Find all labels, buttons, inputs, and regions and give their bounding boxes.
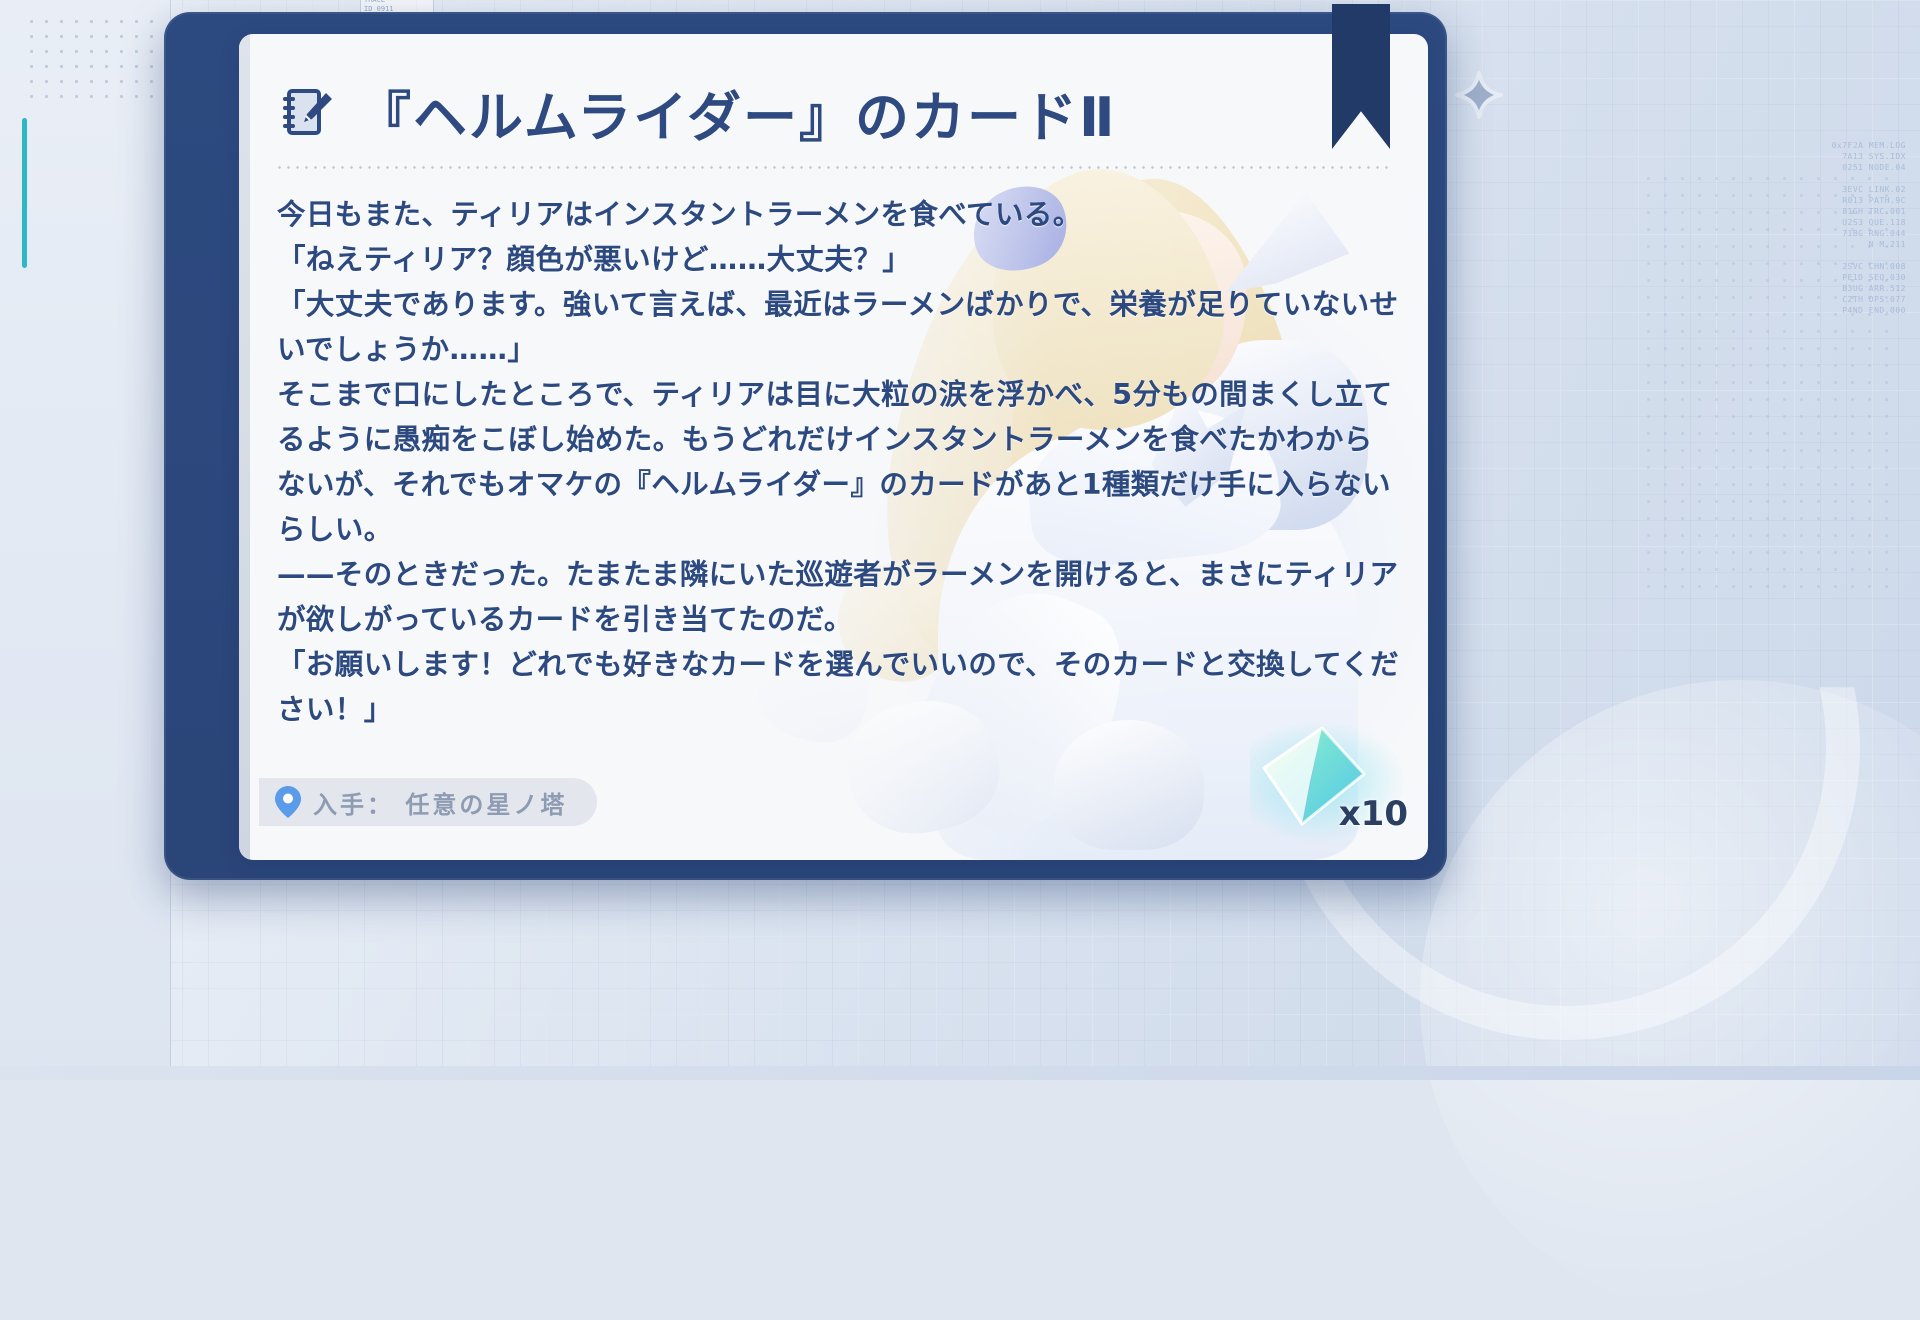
title-divider [275,166,1392,169]
reward-item[interactable]: x10 [1260,724,1410,844]
card-paper: 『ヘルムライダー』のカードⅡ 今日もまた、ティリアはインスタントラーメンを食べて… [239,34,1428,860]
close-button[interactable] [1444,60,1514,130]
background-bottom-strip [0,1066,1920,1080]
paper-left-rail [239,34,250,860]
background-teal-accent-bar [22,118,27,268]
memo-pencil-icon [275,82,335,142]
sparkle-close-icon [1451,67,1507,123]
reward-count: x10 [1339,794,1408,834]
page-title: 『ヘルムライダー』のカードⅡ [357,73,1117,152]
story-paragraph: ——そのときだった。たまたま隣にいた巡遊者がラーメンを開けると、まさにティリアが… [277,552,1399,642]
card-frame: 『ヘルムライダー』のカードⅡ 今日もまた、ティリアはインスタントラーメンを食べて… [164,12,1447,880]
title-row: 『ヘルムライダー』のカードⅡ [275,70,1388,154]
story-body: 今日もまた、ティリアはインスタントラーメンを食べている。 「ねえティリア？顔色が… [277,192,1399,732]
source-badge: 入手： 任意の星ノ塔 [259,778,597,826]
story-paragraph: 「お願いします！どれでも好きなカードを選んでいいので、そのカードと交換してくださ… [277,642,1399,732]
story-paragraph: 今日もまた、ティリアはインスタントラーメンを食べている。 [277,192,1399,237]
map-pin-icon [275,786,301,818]
background-dot-cluster [24,14,164,110]
story-paragraph: そこまで口にしたところで、ティリアは目に大粒の涙を浮かべ、5分もの間まくし立てる… [277,372,1399,552]
source-label: 入手： 任意の星ノ塔 [313,785,567,820]
story-paragraph: 「ねえティリア？顔色が悪いけど……大丈夫？」 [277,237,1399,282]
background-side-code: 0x7F2A MEM.LOG 7A13 SYS.IDX 0251 NODE.04… [1786,140,1906,316]
story-paragraph: 「大丈夫であります。強いて言えば、最近はラーメンばかりで、栄養が足りていないせい… [277,282,1399,372]
